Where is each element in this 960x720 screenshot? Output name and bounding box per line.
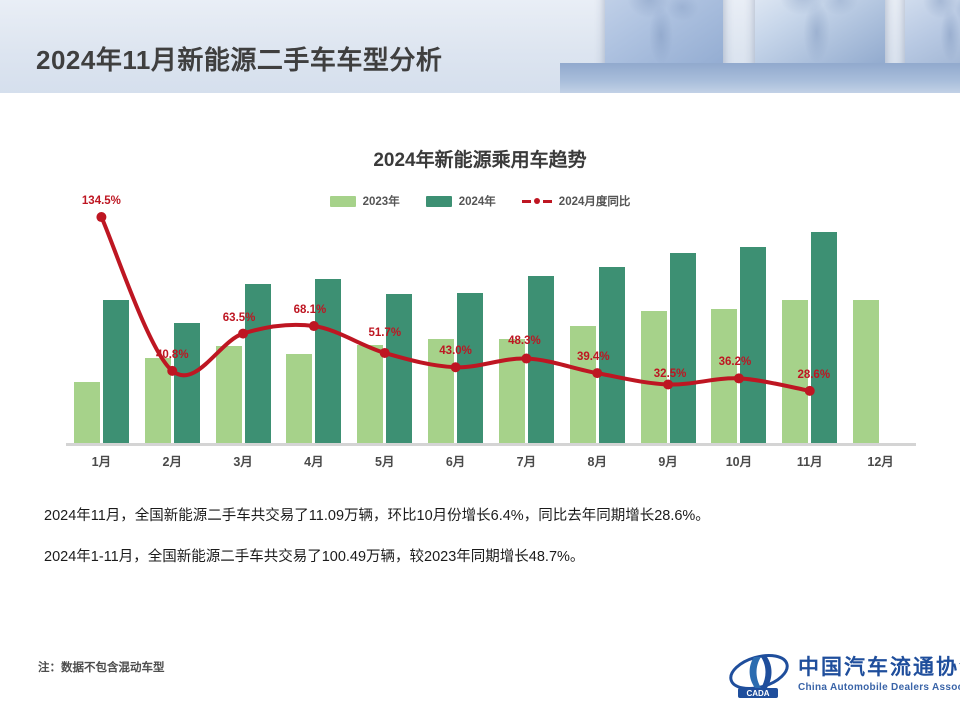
x-tick-7月: 7月 [517, 451, 536, 470]
yoy-label-1月: 134.5% [82, 195, 121, 207]
body-text-block: 2024年11月，全国新能源二手车共交易了11.09万辆，环比10月份增长6.4… [44, 505, 934, 588]
world-map-texture [626, 0, 702, 70]
world-map-texture [922, 0, 960, 67]
body-paragraph-1: 2024年11月，全国新能源二手车共交易了11.09万辆，环比10月份增长6.4… [44, 505, 934, 527]
x-tick-2月: 2月 [163, 451, 182, 470]
yoy-label-8月: 39.4% [577, 351, 610, 363]
header-cubes-artwork [560, 0, 960, 93]
cada-emblem-icon: CADA [728, 650, 790, 700]
x-tick-8月: 8月 [588, 451, 607, 470]
x-tick-3月: 3月 [233, 451, 252, 470]
slide-header: 2024年11月新能源二手车车型分析 [0, 0, 960, 93]
footnote: 注：数据不包含混动车型 [38, 659, 165, 675]
x-tick-11月: 11月 [797, 451, 823, 470]
world-map-texture [778, 0, 861, 70]
x-tick-12月: 12月 [867, 451, 893, 470]
yoy-label-11月: 28.6% [797, 369, 830, 381]
x-tick-6月: 6月 [446, 451, 465, 470]
logo-english-name: China Automobile Dealers Association [798, 682, 960, 693]
x-axis-tick-labels: 1月2月3月4月5月6月7月8月9月10月11月12月 [66, 451, 916, 475]
yoy-label-10月: 36.2% [719, 356, 752, 368]
yoy-label-6月: 43.0% [439, 345, 472, 357]
x-tick-1月: 1月 [92, 451, 111, 470]
artwork-floor [560, 63, 960, 93]
yoy-label-5月: 51.7% [368, 327, 401, 339]
x-tick-4月: 4月 [304, 451, 323, 470]
body-paragraph-2: 2024年1-11月，全国新能源二手车共交易了100.49万辆，较2023年同期… [44, 546, 934, 568]
yoy-data-labels: 134.5%40.8%63.5%68.1%51.7%43.0%48.3%39.4… [66, 200, 916, 443]
chart-container: 2024年新能源乘用车趋势 2023年 2024年 2024月度同比 134.5… [0, 93, 960, 493]
page-title: 2024年11月新能源二手车车型分析 [36, 40, 442, 77]
yoy-label-9月: 32.5% [654, 368, 687, 380]
yoy-label-2月: 40.8% [156, 349, 189, 361]
cada-abbr-text: CADA [746, 689, 769, 698]
x-tick-10月: 10月 [726, 451, 752, 470]
x-tick-5月: 5月 [375, 451, 394, 470]
yoy-label-4月: 68.1% [294, 304, 327, 316]
logo-chinese-name: 中国汽车流通协会 [798, 651, 960, 681]
x-tick-9月: 9月 [658, 451, 677, 470]
chart-title: 2024年新能源乘用车趋势 [0, 145, 960, 172]
cada-logo: CADA 中国汽车流通协会 China Automobile Dealers A… [728, 648, 940, 704]
logo-text-block: 中国汽车流通协会 China Automobile Dealers Associ… [798, 651, 960, 693]
yoy-label-7月: 48.3% [508, 335, 541, 347]
yoy-label-3月: 63.5% [223, 312, 256, 324]
x-axis-line [66, 443, 916, 446]
